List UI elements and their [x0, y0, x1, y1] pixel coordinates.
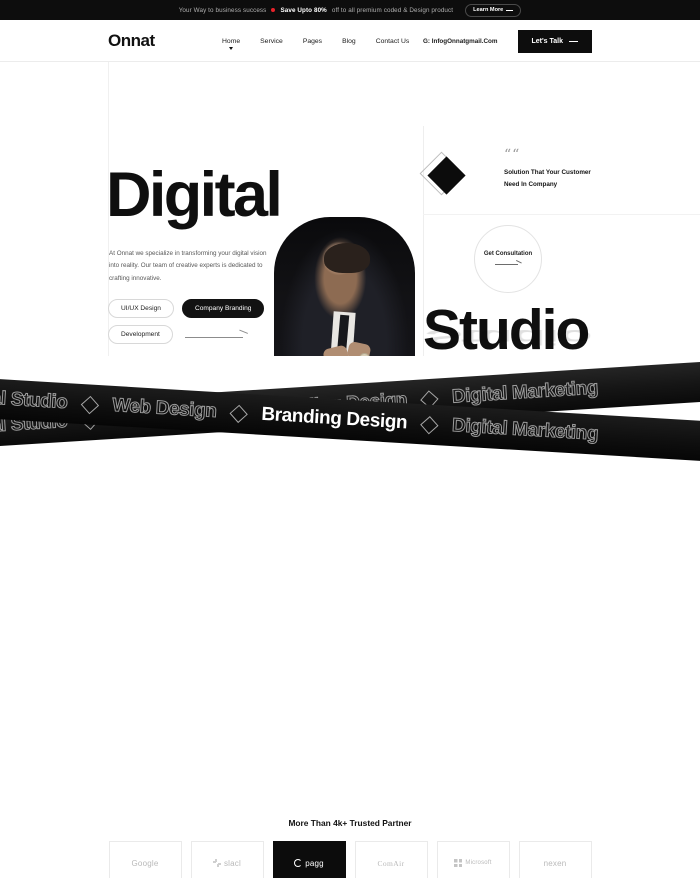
- tag-development[interactable]: Development: [108, 325, 173, 344]
- hero-title-digital: Digital: [106, 169, 280, 222]
- diamond-separator-icon: [230, 404, 248, 422]
- pagg-icon: [294, 859, 302, 867]
- hero-tag-row: UI/UX Design Company Branding: [108, 299, 264, 318]
- partners-section: More Than 4k+ Trusted Partner Google sla…: [0, 818, 700, 878]
- arrow-right-icon: [185, 330, 247, 340]
- announcement-highlight: Save Upto 80%: [280, 7, 326, 14]
- announcement-bar: Your Way to business success Save Upto 8…: [0, 0, 700, 20]
- marquee-item: Digital Studio: [0, 385, 68, 414]
- partner-label: Google: [132, 859, 159, 868]
- arrow-right-icon: [495, 261, 521, 267]
- diamond-separator-icon: [420, 416, 438, 434]
- hero-quote-block: ““ Solution That Your Customer Need In C…: [504, 148, 634, 190]
- quote-line-2: Need In Company: [504, 181, 557, 188]
- partner-logo-nexen[interactable]: nexen: [519, 841, 592, 878]
- hero-title-studio: Studio Studio: [423, 297, 588, 356]
- nav-item-home[interactable]: Home: [222, 38, 240, 45]
- get-consultation-button[interactable]: Get Consultation: [474, 225, 542, 293]
- arrow-right-icon: [506, 10, 513, 11]
- slack-icon: [213, 859, 221, 867]
- main-navbar: Onnat Home Service Pages Blog Contact Us…: [0, 20, 700, 62]
- nav-item-service[interactable]: Service: [260, 38, 283, 45]
- marquee-item: Digital Marketing: [451, 377, 598, 408]
- arrow-right-icon: [569, 41, 578, 42]
- partner-logo-row: Google slacl pagg ComAir Microsoft nexen: [0, 841, 700, 878]
- announcement-rest: off to all premium coded & Design produc…: [332, 7, 453, 14]
- partners-title: More Than 4k+ Trusted Partner: [0, 818, 700, 828]
- quote-icon: ““: [504, 148, 634, 162]
- hero-quote-text: Solution That Your Customer Need In Comp…: [504, 167, 634, 190]
- marquee-item-highlight: Branding Design: [261, 404, 408, 435]
- partner-logo-pagg[interactable]: pagg: [273, 841, 346, 878]
- nav-item-contact-us[interactable]: Contact Us: [376, 38, 410, 45]
- microsoft-icon: [454, 859, 462, 867]
- contact-email[interactable]: G: InfogOnnatgmail.Com: [423, 38, 498, 45]
- diamond-separator-icon: [81, 395, 99, 413]
- nav-item-blog[interactable]: Blog: [342, 38, 356, 45]
- partner-logo-microsoft[interactable]: Microsoft: [437, 841, 510, 878]
- partner-logo-google[interactable]: Google: [109, 841, 182, 878]
- nav-links: Home Service Pages Blog Contact Us: [222, 20, 409, 62]
- nav-right-group: G: InfogOnnatgmail.Com Let's Talk: [423, 20, 592, 62]
- page-root: Your Way to business success Save Upto 8…: [0, 0, 700, 878]
- lets-talk-button[interactable]: Let's Talk: [518, 30, 593, 53]
- partner-label: ComAir: [378, 859, 405, 868]
- solution-section: Provide The Best Easy Solution For Your …: [0, 466, 700, 776]
- partner-label: Microsoft: [465, 860, 491, 866]
- brand-logo[interactable]: Onnat: [108, 31, 155, 51]
- hero-portrait-image: [274, 217, 415, 356]
- learn-more-button[interactable]: Learn More: [465, 4, 521, 17]
- hero-tag-group: UI/UX Design Company Branding Developmen…: [108, 299, 264, 351]
- hero-grid-line: [423, 214, 700, 215]
- hero-tag-row: Development: [108, 325, 264, 344]
- diamond-decoration-icon: [424, 156, 468, 200]
- learn-more-label: Learn More: [473, 7, 503, 13]
- announcement-lead: Your Way to business success: [179, 7, 267, 14]
- announcement-dot-icon: [271, 8, 275, 12]
- partner-logo-comair[interactable]: ComAir: [355, 841, 428, 878]
- studio-reflection: Studio: [425, 325, 590, 350]
- nav-item-pages[interactable]: Pages: [303, 38, 322, 45]
- tag-company-branding[interactable]: Company Branding: [182, 299, 264, 318]
- tag-uiux-design[interactable]: UI/UX Design: [108, 299, 174, 318]
- lets-talk-label: Let's Talk: [532, 38, 564, 45]
- partner-label: pagg: [305, 859, 324, 868]
- partner-label: slacl: [224, 859, 241, 868]
- partner-logo-slack[interactable]: slacl: [191, 841, 264, 878]
- marquee-bands: Digital Studio Web Design Branding Desig…: [0, 356, 700, 466]
- hero-description: At Onnat we specialize in transforming y…: [109, 248, 269, 285]
- hero-section: Digital At Onnat we specialize in transf…: [0, 62, 700, 356]
- get-consultation-label: Get Consultation: [484, 251, 532, 257]
- marquee-item: Digital Marketing: [451, 415, 598, 446]
- quote-line-1: Solution That Your Customer: [504, 169, 591, 176]
- partner-label: nexen: [544, 859, 567, 868]
- marquee-item: Web Design: [112, 395, 218, 423]
